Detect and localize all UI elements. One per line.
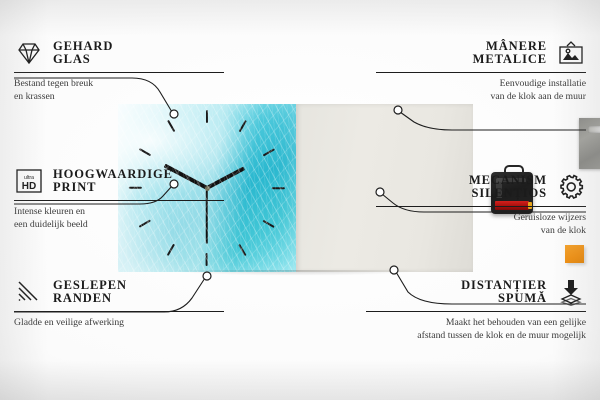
divider — [14, 200, 224, 201]
divider — [376, 72, 586, 73]
diamond-icon — [14, 38, 44, 68]
gear-icon — [556, 172, 586, 202]
spacer-arrow-icon — [556, 277, 586, 307]
divider — [14, 311, 224, 312]
clock-tick — [239, 244, 247, 256]
feature-subtitle: Intense kleuren eneen duidelijk beeld — [14, 206, 224, 230]
svg-text:HD: HD — [22, 181, 36, 192]
feature-subtitle: Eenvoudige installatievan de klok aan de… — [376, 78, 586, 102]
clock-tick — [239, 120, 247, 132]
feature-title: HOOGWAARDIGEPRINT — [53, 168, 173, 195]
feature-manere-metalice: MÂNEREMETALICE Eenvoudige installatievan… — [376, 38, 586, 103]
feature-geslepen-randen: GESLEPENRANDEN Gladde en veilige afwerki… — [14, 277, 224, 330]
feature-subtitle: Bestand tegen breuken krassen — [14, 78, 224, 102]
clock-tick — [272, 187, 285, 189]
wall-hanger-icon — [556, 38, 586, 68]
metal-hanger-plate — [579, 118, 600, 169]
clock-tick — [263, 148, 275, 156]
divider — [366, 311, 586, 312]
infographic-canvas: GEHARDGLAS Bestand tegen breuken krassen… — [0, 0, 600, 400]
feature-hoogwaardige-print: ultra HD HOOGWAARDIGEPRINT Intense kleur… — [14, 166, 224, 231]
feature-header: MÂNEREMETALICE — [376, 38, 586, 68]
feature-title: MÂNEREMETALICE — [473, 40, 547, 67]
clock-tick — [139, 148, 151, 156]
feature-header: GESLEPENRANDEN — [14, 277, 224, 307]
divider — [14, 72, 224, 73]
clock-tick — [167, 244, 175, 256]
feature-header: MECANISMSILENȚIOS — [376, 172, 586, 202]
feature-title: GEHARDGLAS — [53, 40, 113, 67]
feature-subtitle: Geruisloze wijzersvan de klok — [376, 212, 586, 236]
clock-tick — [167, 120, 175, 132]
feature-subtitle: Maakt het behouden van een gelijkeafstan… — [366, 317, 586, 341]
feature-title: MECANISMSILENȚIOS — [469, 174, 547, 201]
divider — [376, 206, 586, 207]
feature-title: GESLEPENRANDEN — [53, 279, 127, 306]
beveled-edges-icon — [14, 277, 44, 307]
foam-spacer — [565, 245, 584, 263]
clock-tick — [263, 220, 275, 228]
feature-header: DISTANȚIERSPUMĂ — [366, 277, 586, 307]
clock-tick — [206, 253, 208, 266]
feature-header: ultra HD HOOGWAARDIGEPRINT — [14, 166, 224, 196]
feature-subtitle: Gladde en veilige afwerking — [14, 317, 224, 329]
clock-tick — [206, 110, 208, 123]
feature-distantier-spuma: DISTANȚIERSPUMĂ Maakt het behouden van e… — [366, 277, 586, 342]
feature-mecanism-silentios: MECANISMSILENȚIOS Geruisloze wijzersvan … — [376, 172, 586, 237]
feature-gehard-glas: GEHARDGLAS Bestand tegen breuken krassen — [14, 38, 224, 103]
ultra-hd-icon: ultra HD — [14, 166, 44, 196]
feature-title: DISTANȚIERSPUMĂ — [461, 279, 547, 306]
feature-header: GEHARDGLAS — [14, 38, 224, 68]
